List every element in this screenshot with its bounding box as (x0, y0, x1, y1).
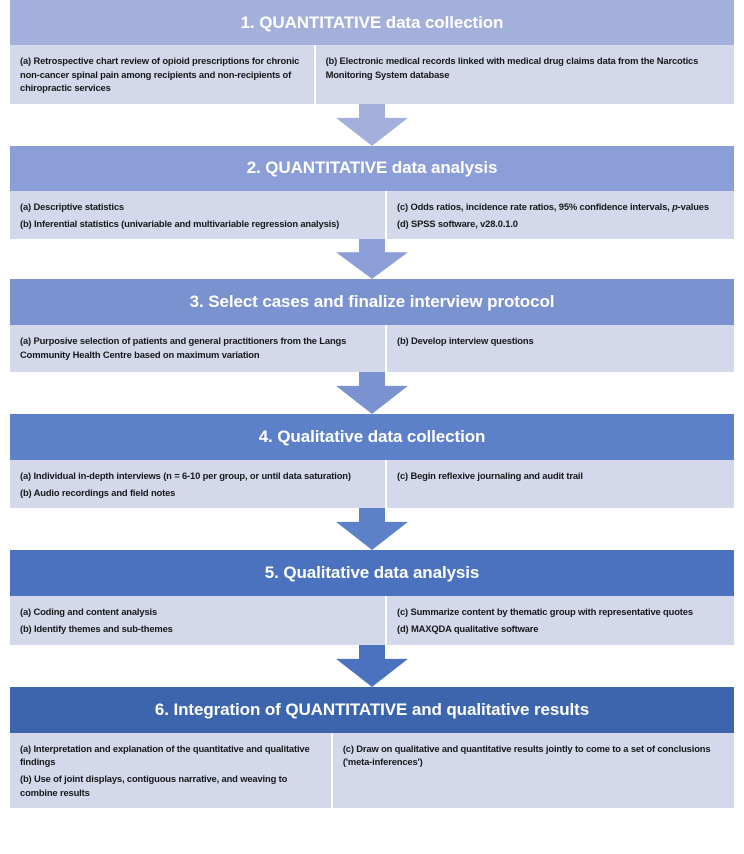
list-item: (c) Odds ratios, incidence rate ratios, … (397, 200, 724, 214)
stage-1-body: (a) Retrospective chart review of opioid… (10, 45, 734, 104)
stage-2-left-column: (a) Descriptive statistics(b) Inferentia… (10, 191, 385, 239)
list-item: (a) Interpretation and explanation of th… (20, 742, 321, 769)
stage-1-title: 1. QUANTITATIVE data collection (241, 13, 504, 33)
stage-6-left-column: (a) Interpretation and explanation of th… (10, 733, 331, 809)
list-item: (a) Individual in-depth interviews (n = … (20, 469, 375, 483)
stage-6-body: (a) Interpretation and explanation of th… (10, 733, 734, 809)
flow-stage-4: 4. Qualitative data collection(a) Indivi… (10, 414, 734, 508)
stage-6-right-column: (c) Draw on qualitative and quantitative… (333, 733, 734, 809)
connector-arrow-4-to-5 (10, 508, 734, 550)
list-item: (a) Purposive selection of patients and … (20, 334, 375, 361)
stage-5-left-column: (a) Coding and content analysis(b) Ident… (10, 596, 385, 644)
stage-3-header: 3. Select cases and finalize interview p… (10, 279, 734, 325)
flow-stage-5: 5. Qualitative data analysis(a) Coding a… (10, 550, 734, 644)
stage-2-header: 2. QUANTITATIVE data analysis (10, 146, 734, 191)
down-arrow-icon (336, 508, 408, 550)
down-arrow-icon (336, 645, 408, 687)
connector-arrow-5-to-6 (10, 645, 734, 687)
flowchart-container: 1. QUANTITATIVE data collection(a) Retro… (0, 0, 744, 854)
connector-arrow-2-to-3 (10, 239, 734, 279)
flow-stage-3: 3. Select cases and finalize interview p… (10, 279, 734, 372)
stage-6-header: 6. Integration of QUANTITATIVE and quali… (10, 687, 734, 733)
stage-3-body: (a) Purposive selection of patients and … (10, 325, 734, 372)
down-arrow-icon (336, 104, 408, 146)
stage-1-right-column: (b) Electronic medical records linked wi… (316, 45, 734, 104)
connector-arrow-1-to-2 (10, 104, 734, 146)
down-arrow-icon (336, 372, 408, 414)
stage-4-right-column: (c) Begin reflexive journaling and audit… (387, 460, 734, 508)
connector-arrow-3-to-4 (10, 372, 734, 414)
list-item: (b) Use of joint displays, contiguous na… (20, 772, 321, 799)
list-item: (a) Retrospective chart review of opioid… (20, 54, 304, 95)
list-item: (c) Begin reflexive journaling and audit… (397, 469, 724, 483)
list-item: (c) Draw on qualitative and quantitative… (343, 742, 724, 769)
flow-stage-6: 6. Integration of QUANTITATIVE and quali… (10, 687, 734, 809)
list-item: (b) Identify themes and sub-themes (20, 622, 375, 636)
stage-2-body: (a) Descriptive statistics(b) Inferentia… (10, 191, 734, 239)
stage-5-right-column: (c) Summarize content by thematic group … (387, 596, 734, 644)
stage-2-right-column: (c) Odds ratios, incidence rate ratios, … (387, 191, 734, 239)
stage-1-left-column: (a) Retrospective chart review of opioid… (10, 45, 314, 104)
stage-3-right-column: (b) Develop interview questions (387, 325, 734, 372)
stage-4-header: 4. Qualitative data collection (10, 414, 734, 460)
stage-3-title: 3. Select cases and finalize interview p… (190, 292, 555, 312)
list-item: (a) Descriptive statistics (20, 200, 375, 214)
stage-6-title: 6. Integration of QUANTITATIVE and quali… (155, 700, 589, 720)
stage-1-header: 1. QUANTITATIVE data collection (10, 0, 734, 45)
flow-stage-2: 2. QUANTITATIVE data analysis(a) Descrip… (10, 146, 734, 239)
flow-stage-1: 1. QUANTITATIVE data collection(a) Retro… (10, 0, 734, 104)
list-item: (c) Summarize content by thematic group … (397, 605, 724, 619)
list-item: (d) MAXQDA qualitative software (397, 622, 724, 636)
stage-4-title: 4. Qualitative data collection (259, 427, 486, 447)
list-item: (d) SPSS software, v28.0.1.0 (397, 217, 724, 231)
stage-5-title: 5. Qualitative data analysis (265, 563, 480, 583)
stage-3-left-column: (a) Purposive selection of patients and … (10, 325, 385, 372)
list-item: (b) Inferential statistics (univariable … (20, 217, 375, 231)
list-item: (b) Develop interview questions (397, 334, 724, 348)
list-item: (a) Coding and content analysis (20, 605, 375, 619)
list-item: (b) Electronic medical records linked wi… (326, 54, 724, 81)
stage-4-body: (a) Individual in-depth interviews (n = … (10, 460, 734, 508)
list-item: (b) Audio recordings and field notes (20, 486, 375, 500)
stage-4-left-column: (a) Individual in-depth interviews (n = … (10, 460, 385, 508)
stage-5-body: (a) Coding and content analysis(b) Ident… (10, 596, 734, 644)
stage-5-header: 5. Qualitative data analysis (10, 550, 734, 596)
down-arrow-icon (336, 239, 408, 279)
stage-2-title: 2. QUANTITATIVE data analysis (247, 158, 498, 178)
